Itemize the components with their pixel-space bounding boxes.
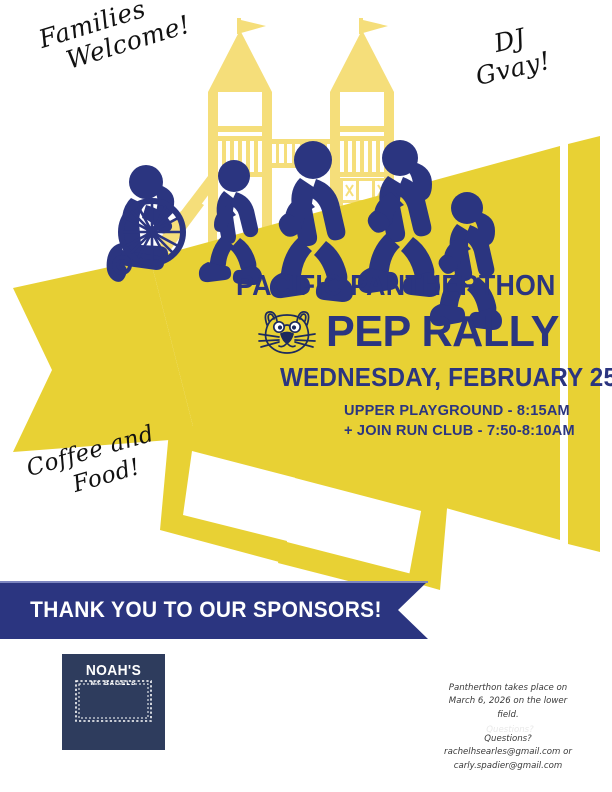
sponsors-banner: THANK YOU TO OUR SPONSORS! <box>0 581 430 639</box>
logo-brand-name: NOAH'S <box>66 663 161 678</box>
footnote-spacer <box>420 722 596 733</box>
pep-rally-row: PEP RALLY <box>236 306 558 358</box>
event-detail-line: + JOIN RUN CLUB - 7:50-8:10AM <box>344 421 552 441</box>
logo-brand-subtitle: NY BAGELS <box>62 681 165 687</box>
sponsors-banner-shape <box>0 581 430 639</box>
footnote-block: Pantherthon takes place on March 6, 2026… <box>420 682 596 773</box>
footnote-email-2: carly.spadier@gmail.com <box>420 760 596 773</box>
headline-block: PACIFIC PANTHERTHON <box>236 272 558 441</box>
page-title: PACIFIC PANTHERTHON <box>236 272 539 301</box>
sponsor-logo-noahs: NOAH'S NY BAGELS <box>62 654 165 750</box>
event-details: UPPER PLAYGROUND - 8:15AM + JOIN RUN CLU… <box>344 401 558 441</box>
wheelchair-athlete-icon <box>107 165 183 282</box>
footnote-questions-label: Questions? <box>420 733 596 746</box>
event-detail-line: UPPER PLAYGROUND - 8:15AM <box>344 401 552 421</box>
footnote-email-1: rachelhsearles@gmail.com or <box>420 746 596 759</box>
page-subtitle: PEP RALLY <box>326 310 559 354</box>
runner-child-icon <box>199 160 262 285</box>
footnote-line: March 6, 2026 on the lower <box>420 695 596 708</box>
footnote-line: field. <box>420 709 596 722</box>
logo-text-group: NOAH'S NY BAGELS <box>62 663 165 687</box>
flyer-page: Families Welcome! DJ Gvay! Coffee and Fo… <box>0 0 612 792</box>
footnote-line: Pantherthon takes place on <box>420 682 596 695</box>
event-date: WEDNESDAY, FEBRUARY 25 <box>280 366 544 392</box>
panther-face-icon <box>256 309 318 355</box>
